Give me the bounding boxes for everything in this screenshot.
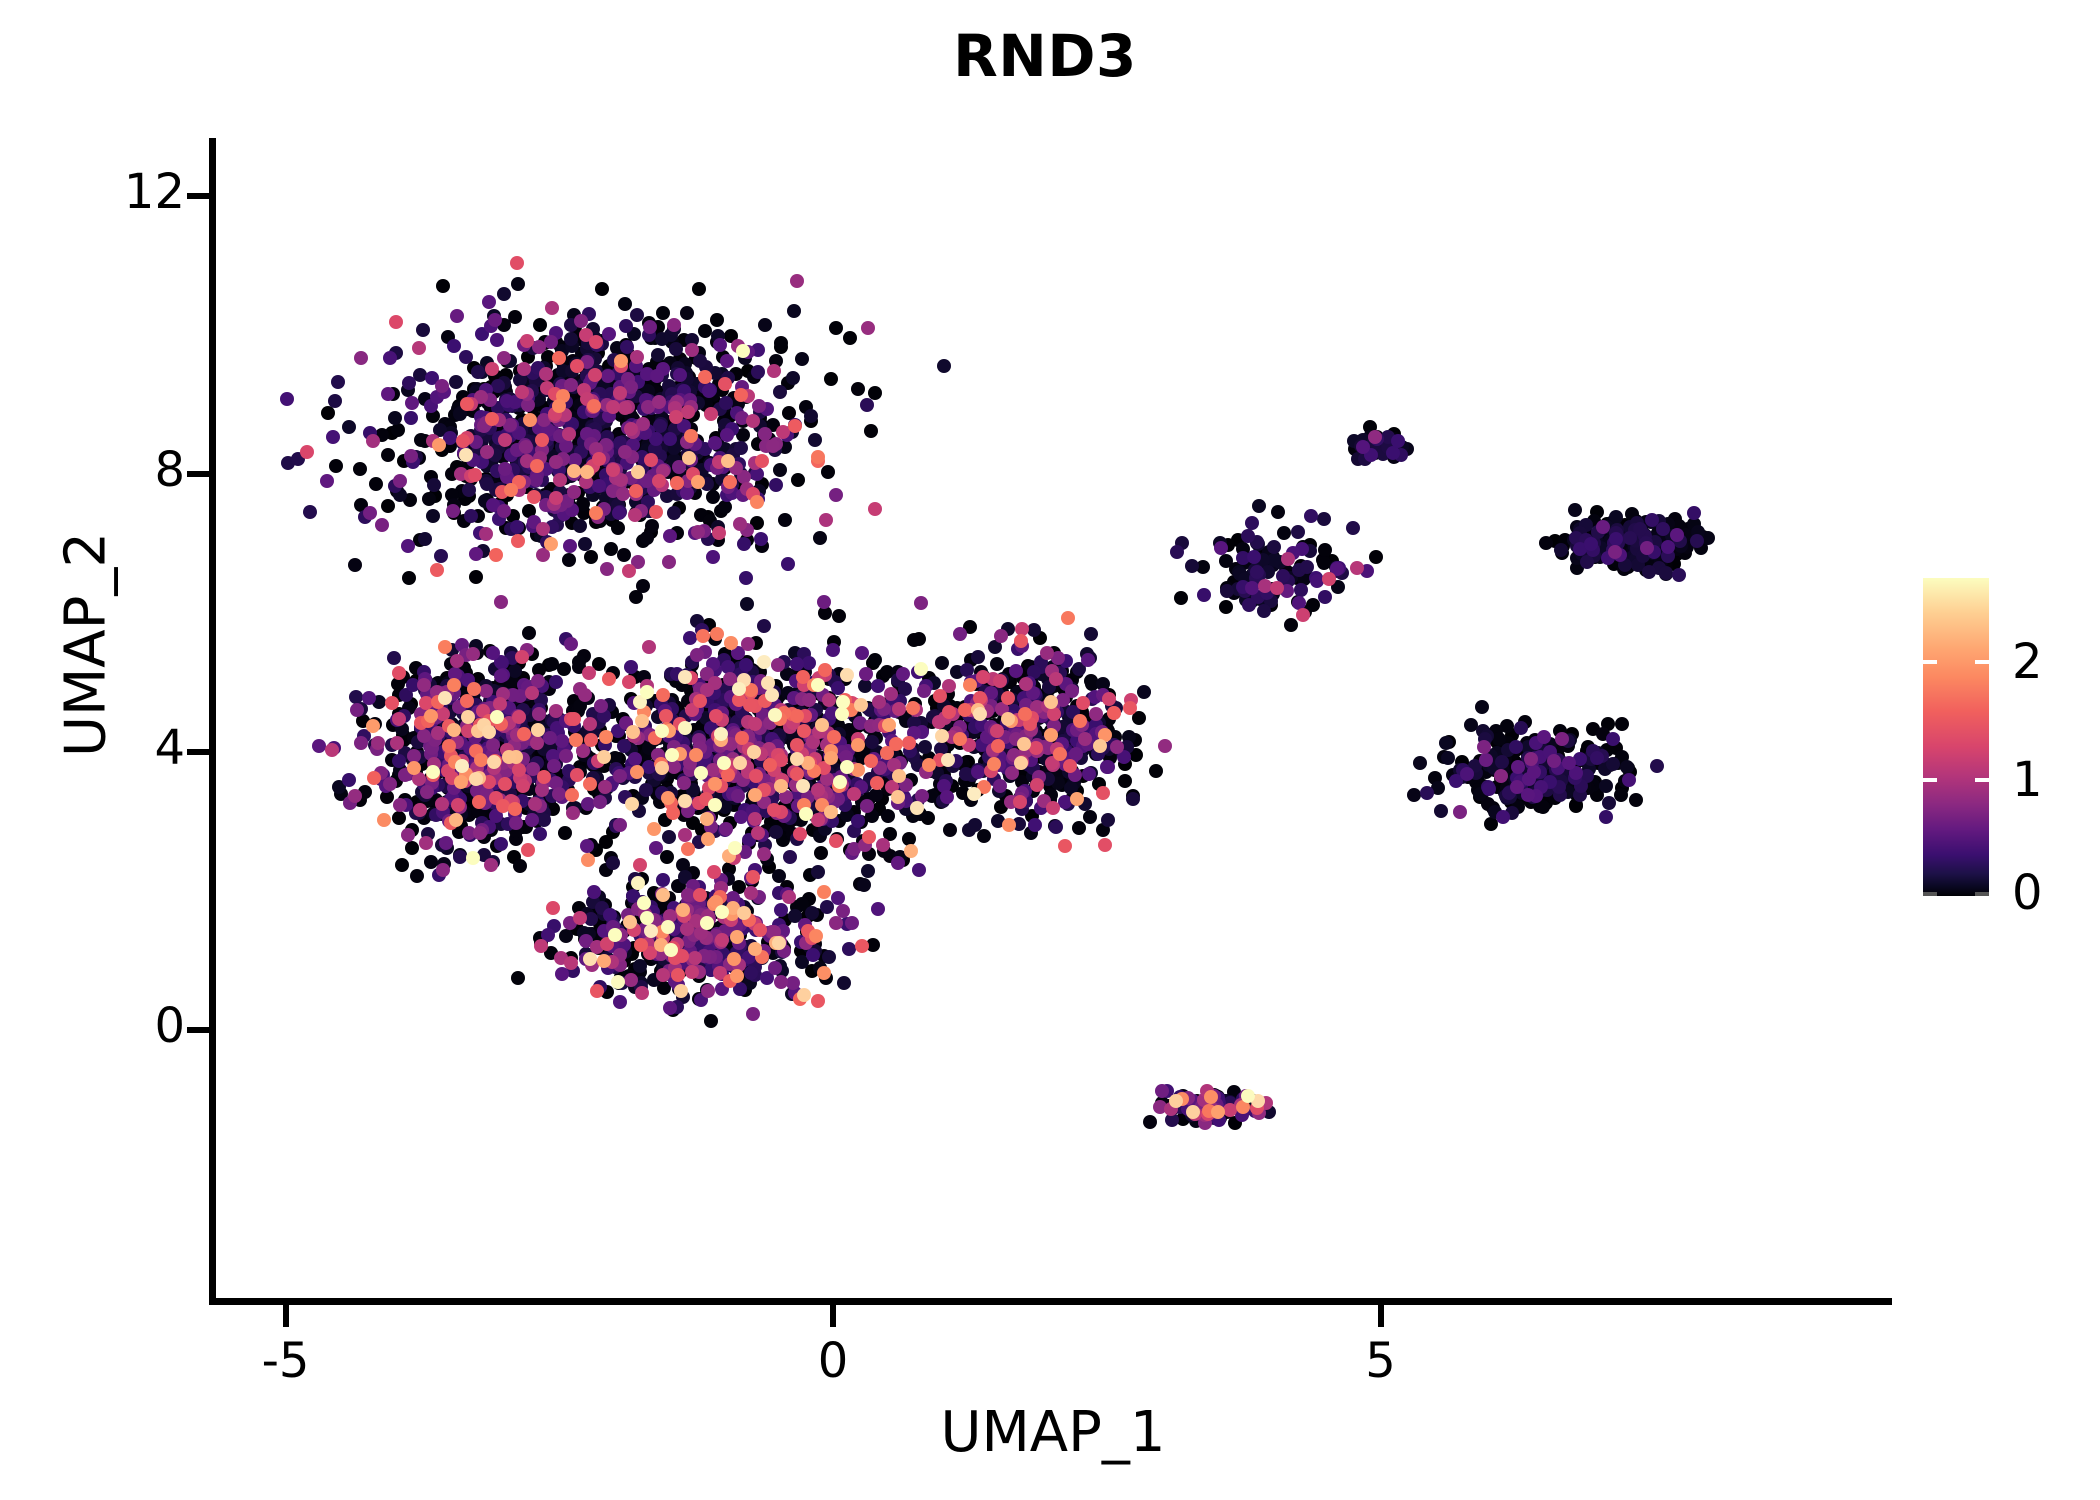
scatter-point <box>935 656 949 670</box>
scatter-point <box>469 547 483 561</box>
y-axis-label: UMAP_2 <box>54 345 119 945</box>
scatter-point <box>612 506 626 520</box>
scatter-point <box>757 619 771 633</box>
scatter-point <box>422 492 436 506</box>
scatter-point <box>546 901 560 915</box>
scatter-point <box>755 454 769 468</box>
scatter-point <box>616 487 630 501</box>
scatter-point <box>724 636 738 650</box>
scatter-point <box>449 375 463 389</box>
scatter-point <box>751 365 765 379</box>
scatter-point <box>525 813 539 827</box>
scatter-point <box>817 885 831 899</box>
y-tick-label: 8 <box>154 442 185 498</box>
scatter-point <box>300 445 314 459</box>
scatter-point <box>748 717 762 731</box>
scatter-point <box>704 407 718 421</box>
scatter-point <box>797 724 811 738</box>
scatter-point <box>552 787 566 801</box>
scatter-point <box>392 811 406 825</box>
scatter-point <box>1096 786 1110 800</box>
scatter-point <box>630 350 644 364</box>
scatter-point <box>328 394 342 408</box>
scatter-point <box>1001 691 1015 705</box>
scatter-point <box>515 650 529 664</box>
scatter-point <box>819 513 833 527</box>
scatter-point <box>490 333 504 347</box>
scatter-point <box>1170 545 1184 559</box>
scatter-point <box>519 440 533 454</box>
scatter-point <box>1123 701 1137 715</box>
scatter-point <box>1002 818 1016 832</box>
scatter-point <box>405 396 419 410</box>
scatter-point <box>494 595 508 609</box>
scatter-point <box>826 643 840 657</box>
scatter-point <box>990 657 1004 671</box>
scatter-point <box>864 424 878 438</box>
scatter-point <box>402 571 416 585</box>
scatter-point <box>698 370 712 384</box>
scatter-point <box>1072 821 1086 835</box>
scatter-point <box>439 836 453 850</box>
scatter-point <box>733 517 747 531</box>
scatter-point <box>553 473 567 487</box>
scatter-point <box>1174 591 1188 605</box>
scatter-point <box>606 856 620 870</box>
scatter-point <box>342 773 356 787</box>
scatter-point <box>1475 700 1489 714</box>
scatter-point <box>851 382 865 396</box>
scatter-point <box>778 513 792 527</box>
scatter-point <box>530 459 544 473</box>
scatter-point <box>811 450 825 464</box>
scatter-point <box>652 395 666 409</box>
scatter-point <box>971 650 985 664</box>
scatter-point <box>606 463 620 477</box>
scatter-point <box>1107 706 1121 720</box>
scatter-point <box>436 279 450 293</box>
scatter-point <box>718 377 732 391</box>
scatter-point <box>681 842 695 856</box>
scatter-point <box>1296 608 1310 622</box>
scatter-point <box>371 736 385 750</box>
scatter-point <box>1284 618 1298 632</box>
scatter-point <box>656 306 670 320</box>
scatter-point <box>629 484 643 498</box>
scatter-point <box>1386 446 1400 460</box>
scatter-point <box>790 274 804 288</box>
scatter-point <box>845 916 859 930</box>
scatter-point <box>447 678 461 692</box>
scatter-point <box>484 858 498 872</box>
scatter-point <box>1350 561 1364 575</box>
scatter-point <box>642 640 656 654</box>
scatter-point <box>831 891 845 905</box>
scatter-point <box>1257 604 1271 618</box>
scatter-point <box>1609 532 1623 546</box>
scatter-point <box>710 627 724 641</box>
scatter-point <box>559 749 573 763</box>
scatter-point <box>783 850 797 864</box>
scatter-point <box>719 822 733 836</box>
scatter-point <box>534 939 548 953</box>
scatter-point <box>498 777 512 791</box>
scatter-point <box>1596 520 1610 534</box>
scatter-point <box>512 763 526 777</box>
scatter-point <box>662 830 676 844</box>
scatter-point <box>573 519 587 533</box>
scatter-point <box>533 827 547 841</box>
scatter-point <box>706 550 720 564</box>
y-tick-mark <box>187 193 209 199</box>
scatter-point <box>464 509 478 523</box>
scatter-point <box>977 829 991 843</box>
scatter-point <box>740 597 754 611</box>
scatter-point <box>710 313 724 327</box>
scatter-point <box>617 548 631 562</box>
x-tick-mark <box>1378 1305 1384 1327</box>
scatter-point <box>545 657 559 671</box>
scatter-point <box>994 629 1008 643</box>
scatter-point <box>545 301 559 315</box>
scatter-point <box>671 968 685 982</box>
scatter-point <box>663 529 677 543</box>
scatter-point <box>1453 805 1467 819</box>
scatter-point <box>718 500 732 514</box>
scatter-point <box>673 368 687 382</box>
scatter-point <box>1185 559 1199 573</box>
scatter-point <box>940 790 954 804</box>
scatter-point <box>419 696 433 710</box>
scatter-point <box>592 479 606 493</box>
scatter-point <box>748 812 762 826</box>
scatter-point <box>754 532 768 546</box>
scatter-point <box>1599 810 1613 824</box>
scatter-point <box>517 727 531 741</box>
scatter-point <box>353 462 367 476</box>
scatter-point <box>790 657 804 671</box>
scatter-point <box>559 929 573 943</box>
scatter-point <box>859 667 873 681</box>
scatter-point <box>1368 430 1382 444</box>
y-tick-mark <box>187 1027 209 1033</box>
scatter-point <box>649 505 663 519</box>
scatter-point <box>1439 736 1453 750</box>
scatter-point <box>393 474 407 488</box>
scatter-point <box>768 961 782 975</box>
scatter-point <box>497 504 511 518</box>
scatter-point <box>633 959 647 973</box>
scatter-point <box>1081 653 1095 667</box>
scatter-point <box>567 712 581 726</box>
scatter-point <box>1369 550 1383 564</box>
scatter-point <box>787 304 801 318</box>
scatter-point <box>494 669 508 683</box>
scatter-point <box>865 735 879 749</box>
scatter-point <box>1267 540 1281 554</box>
scatter-point <box>1137 685 1151 699</box>
scatter-point <box>814 846 828 860</box>
scatter-point <box>320 474 334 488</box>
scatter-point <box>851 814 865 828</box>
scatter-point <box>774 903 788 917</box>
scatter-point <box>706 490 720 504</box>
scatter-point <box>723 475 737 489</box>
scatter-point <box>1049 672 1063 686</box>
scatter-point <box>435 379 449 393</box>
scatter-point <box>1615 717 1629 731</box>
scatter-point <box>1514 721 1528 735</box>
scatter-point <box>720 354 734 368</box>
scatter-point <box>860 398 874 412</box>
scatter-point <box>1496 810 1510 824</box>
scatter-point <box>1494 769 1508 783</box>
scatter-point <box>1555 732 1569 746</box>
x-tick-label: 0 <box>753 1333 913 1389</box>
scatter-point <box>662 555 676 569</box>
scatter-point <box>1155 1084 1169 1098</box>
scatter-point <box>685 343 699 357</box>
scatter-point <box>1197 588 1211 602</box>
scatter-point <box>280 392 294 406</box>
scatter-point <box>868 653 882 667</box>
scatter-point <box>827 730 841 744</box>
scatter-point <box>388 411 402 425</box>
x-axis-label: UMAP_1 <box>213 1400 1893 1465</box>
scatter-point <box>1356 440 1370 454</box>
scatter-point <box>582 666 596 680</box>
scatter-point <box>793 827 807 841</box>
scatter-point <box>325 743 339 757</box>
scatter-point <box>450 309 464 323</box>
scatter-point <box>817 966 831 980</box>
scatter-point <box>517 362 531 376</box>
scatter-point <box>829 834 843 848</box>
scatter-point <box>881 809 895 823</box>
scatter-point <box>578 537 592 551</box>
scatter-point <box>1608 545 1622 559</box>
scatter-point <box>628 508 642 522</box>
scatter-point <box>474 753 488 767</box>
scatter-point <box>991 739 1005 753</box>
scatter-point <box>486 738 500 752</box>
scatter-point <box>348 558 362 572</box>
scatter-point <box>1063 759 1077 773</box>
scatter-point <box>442 739 456 753</box>
scatter-point <box>734 441 748 455</box>
scatter-point <box>570 768 584 782</box>
scatter-point <box>713 338 727 352</box>
scatter-point <box>549 675 563 689</box>
scatter-point <box>896 667 910 681</box>
scatter-point <box>606 400 620 414</box>
scatter-point <box>842 942 856 956</box>
scatter-point <box>645 519 659 533</box>
scatter-point <box>520 334 534 348</box>
scatter-point <box>861 864 875 878</box>
scatter-point <box>652 474 666 488</box>
scatter-point <box>684 429 698 443</box>
scatter-point <box>659 709 673 723</box>
scatter-point <box>721 768 735 782</box>
scatter-point <box>811 994 825 1008</box>
scatter-plot-area <box>216 140 1892 1298</box>
scatter-point <box>1554 543 1568 557</box>
scatter-point <box>331 375 345 389</box>
scatter-point <box>735 731 749 745</box>
scatter-point <box>450 654 464 668</box>
scatter-point <box>685 965 699 979</box>
scatter-point <box>918 740 932 754</box>
scatter-point <box>602 327 616 341</box>
scatter-point <box>480 477 494 491</box>
x-axis-spine <box>209 1298 1892 1305</box>
scatter-point <box>557 662 571 676</box>
scatter-point <box>472 795 486 809</box>
scatter-point <box>312 739 326 753</box>
scatter-point <box>497 351 511 365</box>
scatter-point <box>1118 774 1132 788</box>
scatter-point <box>1482 782 1496 796</box>
scatter-point <box>383 777 397 791</box>
scatter-point <box>1672 568 1686 582</box>
scatter-point <box>497 287 511 301</box>
scatter-point <box>624 660 638 674</box>
scatter-point <box>385 696 399 710</box>
scatter-point <box>636 579 650 593</box>
scatter-point <box>1242 598 1256 612</box>
scatter-point <box>1084 627 1098 641</box>
scatter-point <box>809 929 823 943</box>
scatter-point <box>377 813 391 827</box>
scatter-point <box>479 684 493 698</box>
scatter-point <box>509 816 523 830</box>
scatter-point <box>880 746 894 760</box>
x-tick-label: -5 <box>206 1333 366 1389</box>
scatter-point <box>937 359 951 373</box>
scatter-point <box>643 320 657 334</box>
scatter-point <box>1277 526 1291 540</box>
scatter-point <box>771 658 785 672</box>
scatter-point <box>570 359 584 373</box>
scatter-point <box>488 313 502 327</box>
scatter-point <box>622 564 636 578</box>
scatter-point <box>451 798 465 812</box>
scatter-point <box>510 256 524 270</box>
x-tick-label: 5 <box>1301 1333 1461 1389</box>
y-tick-label: 4 <box>154 720 185 776</box>
scatter-point <box>1510 780 1524 794</box>
scatter-point <box>821 465 835 479</box>
scatter-point <box>837 976 851 990</box>
scatter-point <box>303 505 317 519</box>
scatter-point <box>689 748 703 762</box>
scatter-point <box>829 321 843 335</box>
scatter-point <box>813 531 827 545</box>
scatter-point <box>469 570 483 584</box>
x-tick-mark <box>830 1305 836 1327</box>
scatter-point <box>611 521 625 535</box>
scatter-point <box>704 1014 718 1028</box>
scatter-point <box>1291 525 1305 539</box>
scatter-point <box>405 841 419 855</box>
scatter-point <box>712 526 726 540</box>
scatter-point <box>1547 754 1561 768</box>
scatter-point <box>1089 707 1103 721</box>
scatter-point <box>348 789 362 803</box>
scatter-point <box>1214 541 1228 555</box>
scatter-point <box>1083 810 1097 824</box>
scatter-point <box>1687 506 1701 520</box>
scatter-point <box>589 335 603 349</box>
scatter-point <box>1479 753 1493 767</box>
scatter-point <box>802 656 816 670</box>
scatter-point <box>656 688 670 702</box>
scatter-point <box>1143 1115 1157 1129</box>
scatter-point <box>1317 512 1331 526</box>
scatter-point <box>1245 516 1259 530</box>
scatter-point <box>1061 611 1075 625</box>
scatter-point <box>412 341 426 355</box>
scatter-point <box>392 666 406 680</box>
scatter-point <box>482 295 496 309</box>
scatter-point <box>1247 550 1261 564</box>
scatter-point <box>639 783 653 797</box>
scatter-point <box>914 596 928 610</box>
scatter-point <box>746 414 760 428</box>
scatter-point <box>387 651 401 665</box>
scatter-point <box>630 765 644 779</box>
scatter-point <box>416 323 430 337</box>
scatter-point <box>434 549 448 563</box>
scatter-point <box>692 282 706 296</box>
scatter-point <box>390 736 404 750</box>
scatter-point <box>660 850 674 864</box>
scatter-point <box>822 950 836 964</box>
scatter-point <box>1219 600 1233 614</box>
scatter-point <box>1322 572 1336 586</box>
scatter-point <box>693 888 707 902</box>
scatter-point <box>581 853 595 867</box>
scatter-point <box>430 563 444 577</box>
scatter-point <box>580 839 594 853</box>
scatter-point <box>862 830 876 844</box>
scatter-point <box>633 858 647 872</box>
scatter-point <box>757 847 771 861</box>
scatter-point <box>1019 677 1033 691</box>
scatter-point <box>393 798 407 812</box>
scatter-point <box>769 478 783 492</box>
scatter-point <box>1420 786 1434 800</box>
scatter-point <box>663 1001 677 1015</box>
scatter-point <box>1245 581 1259 595</box>
y-tick-mark <box>187 749 209 755</box>
scatter-point <box>857 878 871 892</box>
scatter-point <box>513 859 527 873</box>
scatter-point <box>1539 536 1553 550</box>
scatter-point <box>808 433 822 447</box>
scatter-point <box>525 686 539 700</box>
scatter-point <box>630 308 644 322</box>
scatter-point <box>667 506 681 520</box>
y-axis-spine <box>209 138 216 1305</box>
scatter-point <box>1110 740 1124 754</box>
scatter-point <box>404 449 418 463</box>
scatter-point <box>1078 732 1092 746</box>
scatter-point <box>1562 756 1576 770</box>
scatter-point <box>1391 434 1405 448</box>
scatter-point <box>486 646 500 660</box>
